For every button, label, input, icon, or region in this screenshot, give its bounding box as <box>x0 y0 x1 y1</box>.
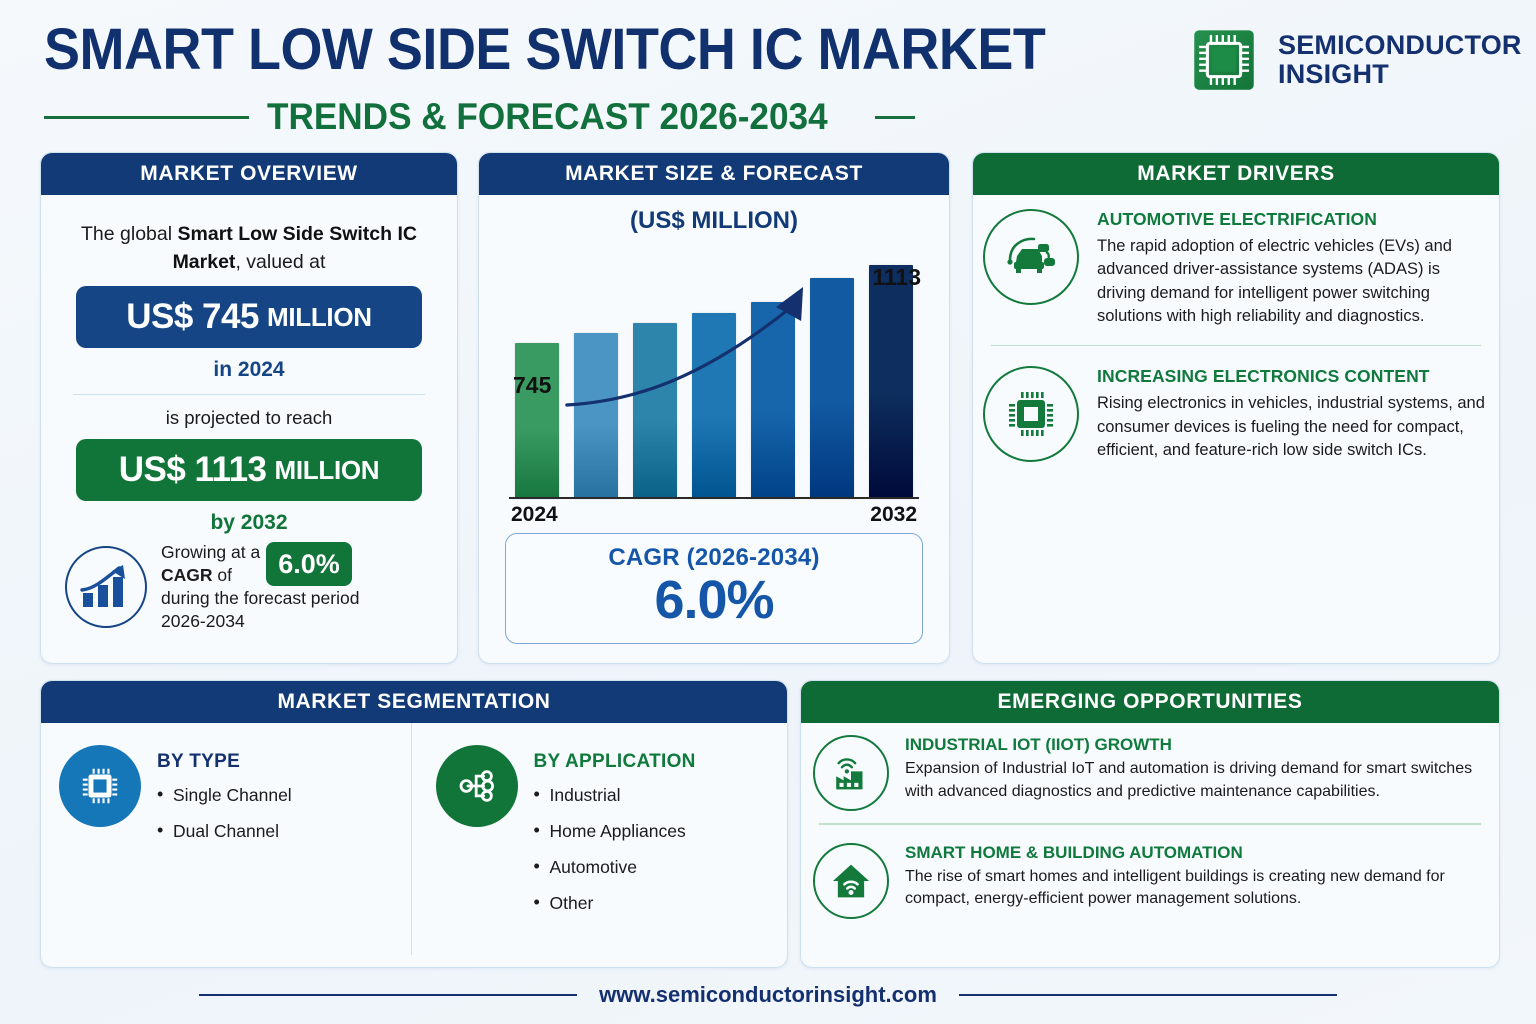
market-size-heading: MARKET SIZE & FORECAST <box>479 153 949 195</box>
factory-wifi-icon <box>813 735 889 811</box>
by-application-title: BY APPLICATION <box>534 751 696 773</box>
cagr-summary-box: CAGR (2026-2034) 6.0% <box>505 533 923 644</box>
chart-unit-label: (US$ MILLION) <box>489 207 939 235</box>
opportunity-text: The rise of smart homes and intelligent … <box>905 866 1483 911</box>
page-subtitle: TRENDS & FORECAST 2026-2034 <box>267 96 828 138</box>
driver-title: INCREASING ELECTRONICS CONTENT <box>1097 366 1485 387</box>
microchip-icon <box>59 745 141 827</box>
segmentation-by-type: BY TYPE Single Channel Dual Channel <box>41 723 411 955</box>
value-2024-year: in 2024 <box>59 358 439 382</box>
market-size-forecast-panel: MARKET SIZE & FORECAST (US$ MILLION) 745… <box>478 152 950 664</box>
market-overview-body: The global Smart Low Side Switch IC Mark… <box>41 195 457 646</box>
x-label-end: 2032 <box>870 503 917 527</box>
footer-url[interactable]: www.semiconductorinsight.com <box>599 982 937 1008</box>
driver-text: Rising electronics in vehicles, industri… <box>1097 392 1485 462</box>
bar-2029 <box>810 278 854 499</box>
segmentation-columns: BY TYPE Single Channel Dual Channel <box>41 723 787 955</box>
emerging-opportunities-heading: EMERGING OPPORTUNITIES <box>801 681 1499 723</box>
cagr-box-value: 6.0% <box>506 572 922 629</box>
overview-divider <box>73 394 425 395</box>
overview-lead-c: , valued at <box>235 251 325 273</box>
opportunity-text: Expansion of Industrial IoT and automati… <box>905 758 1483 803</box>
projected-label: is projected to reach <box>59 407 439 429</box>
emerging-opportunities-panel: EMERGING OPPORTUNITIES <box>800 680 1500 968</box>
subtitle-rule-left <box>44 116 249 119</box>
by-type-content: BY TYPE Single Channel Dual Channel <box>157 745 292 955</box>
bar-2028 <box>751 302 795 499</box>
opportunity-body: SMART HOME & BUILDING AUTOMATION The ris… <box>905 843 1483 919</box>
list-item: Dual Channel <box>157 821 292 842</box>
footer: www.semiconductorinsight.com <box>0 982 1536 1008</box>
electric-car-icon <box>983 209 1079 305</box>
x-label-start: 2024 <box>511 503 558 527</box>
chart-x-labels: 2024 2032 <box>511 503 917 527</box>
value-2024-unit: MILLION <box>267 302 372 333</box>
bar-2027 <box>692 313 736 499</box>
opportunity-item: SMART HOME & BUILDING AUTOMATION The ris… <box>801 831 1499 925</box>
value-2032-unit: MILLION <box>275 455 380 486</box>
list-item: Automotive <box>534 857 696 878</box>
market-segmentation-panel: MARKET SEGMENTATION <box>40 680 788 968</box>
cagr-row: Growing at a CAGR of 6.0% during the for… <box>59 535 439 632</box>
cagr-badge: 6.0% <box>266 542 352 586</box>
driver-body: AUTOMOTIVE ELECTRIFICATION The rapid ado… <box>1097 209 1485 329</box>
opportunities-divider <box>819 823 1481 825</box>
market-drivers-heading: MARKET DRIVERS <box>973 153 1499 195</box>
opportunities-body: INDUSTRIAL IOT (IIOT) GROWTH Expansion o… <box>801 723 1499 925</box>
list-item: Industrial <box>534 785 696 806</box>
brand-line-2: INSIGHT <box>1278 60 1522 89</box>
microchip-icon <box>983 366 1079 462</box>
chart-body: (US$ MILLION) 745 1113 2024 2032 CAGR (2… <box>479 207 949 644</box>
smart-home-icon <box>813 843 889 919</box>
cagr-line-4: 2026-2034 <box>161 610 359 633</box>
list-item: Other <box>534 893 696 914</box>
by-type-list: Single Channel Dual Channel <box>157 785 292 842</box>
overview-lead-text: The global Smart Low Side Switch IC Mark… <box>59 209 439 286</box>
value-2024-pill: US$ 745 MILLION <box>76 286 422 348</box>
opportunity-title: INDUSTRIAL IOT (IIOT) GROWTH <box>905 735 1483 755</box>
driver-item: INCREASING ELECTRONICS CONTENT Rising el… <box>973 352 1499 472</box>
value-2032-amount: US$ 1113 <box>119 450 267 490</box>
list-item: Single Channel <box>157 785 292 806</box>
brand-line-1: SEMICONDUCTOR <box>1278 31 1522 60</box>
drivers-divider <box>991 345 1481 347</box>
bar-2032 <box>869 265 913 499</box>
opportunity-title: SMART HOME & BUILDING AUTOMATION <box>905 843 1483 863</box>
bar-2024 <box>515 343 559 499</box>
driver-item: AUTOMOTIVE ELECTRIFICATION The rapid ado… <box>973 195 1499 339</box>
value-2024-amount: US$ 745 <box>126 297 259 337</box>
by-application-list: Industrial Home Appliances Automotive Ot… <box>534 785 696 914</box>
bar-2026 <box>633 323 677 499</box>
chart-label-first: 745 <box>513 372 551 399</box>
chart-axis-line <box>509 497 919 499</box>
growth-chart-icon <box>65 546 147 628</box>
node-tree-icon <box>436 745 518 827</box>
opportunity-item: INDUSTRIAL IOT (IIOT) GROWTH Expansion o… <box>801 723 1499 817</box>
cagr-box-title: CAGR (2026-2034) <box>506 544 922 572</box>
driver-body: INCREASING ELECTRONICS CONTENT Rising el… <box>1097 366 1485 462</box>
chart-label-last: 1113 <box>872 264 921 291</box>
page-title: SMART LOW SIDE SWITCH IC MARKET <box>44 16 1045 83</box>
market-overview-panel: MARKET OVERVIEW The global Smart Low Sid… <box>40 152 458 664</box>
market-segmentation-heading: MARKET SEGMENTATION <box>41 681 787 723</box>
market-drivers-panel: MARKET DRIVERS <box>972 152 1500 664</box>
driver-text: The rapid adoption of electric vehicles … <box>1097 235 1485 329</box>
brand-logo: SEMICONDUCTOR INSIGHT <box>1186 22 1522 98</box>
brand-name: SEMICONDUCTOR INSIGHT <box>1278 31 1522 89</box>
driver-title: AUTOMOTIVE ELECTRIFICATION <box>1097 209 1485 230</box>
subtitle-row: TRENDS & FORECAST 2026-2034 <box>44 96 1144 138</box>
chip-icon <box>1186 22 1262 98</box>
cagr-description: Growing at a CAGR of 6.0% during the for… <box>161 541 359 632</box>
overview-lead-a: The global <box>81 223 177 245</box>
cagr-line-3: during the forecast period <box>161 587 359 610</box>
value-2032-year: by 2032 <box>59 511 439 535</box>
header: SMART LOW SIDE SWITCH IC MARKET TRENDS &… <box>0 0 1536 146</box>
list-item: Home Appliances <box>534 821 696 842</box>
opportunity-body: INDUSTRIAL IOT (IIOT) GROWTH Expansion o… <box>905 735 1483 811</box>
footer-rule-right <box>959 994 1337 996</box>
value-2032-pill: US$ 1113 MILLION <box>76 439 422 501</box>
drivers-body: AUTOMOTIVE ELECTRIFICATION The rapid ado… <box>973 195 1499 472</box>
cagr-line-1: Growing at a <box>161 541 260 564</box>
subtitle-rule-right <box>875 116 915 119</box>
segmentation-by-application: BY APPLICATION Industrial Home Appliance… <box>411 723 788 955</box>
bar-2025 <box>574 333 618 499</box>
market-overview-heading: MARKET OVERVIEW <box>41 153 457 195</box>
bar-chart: 745 1113 2024 2032 <box>501 237 927 527</box>
bar-group <box>515 247 913 499</box>
infographic-page: SMART LOW SIDE SWITCH IC MARKET TRENDS &… <box>0 0 1536 1024</box>
footer-rule-left <box>199 994 577 996</box>
by-application-content: BY APPLICATION Industrial Home Appliance… <box>534 745 696 955</box>
cagr-bold: CAGR <box>161 565 213 585</box>
by-type-title: BY TYPE <box>157 751 292 773</box>
cagr-of: of <box>213 565 232 585</box>
